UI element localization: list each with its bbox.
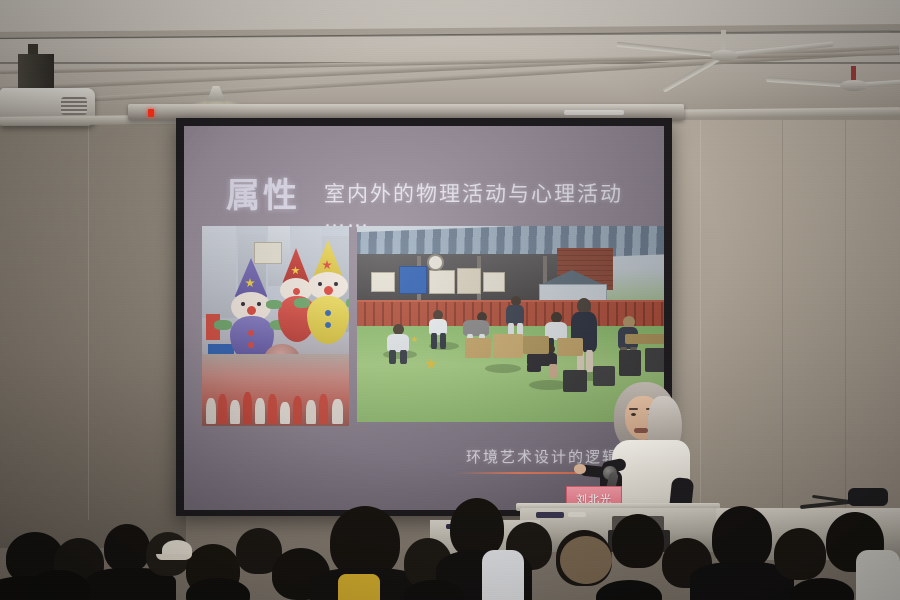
slide-subheading: 室内外的物理活动与心理活动 …… xyxy=(324,178,664,232)
wall-seam xyxy=(88,120,89,520)
audience-white-hoodie xyxy=(482,550,524,600)
lecture-hall-scene: 属性 室内外的物理活动与心理活动 …… xyxy=(0,0,900,600)
projected-slide: 属性 室内外的物理活动与心理活动 …… xyxy=(184,126,664,510)
slide-heading: 属性 xyxy=(226,168,300,217)
audience-head xyxy=(450,498,504,558)
audience-yellow-shirt xyxy=(338,574,380,600)
parade-balloons-photo xyxy=(202,226,349,426)
parade-crowd xyxy=(202,354,349,426)
presenter-hand xyxy=(574,464,586,474)
housing-label xyxy=(564,110,624,115)
audience-curly-hair xyxy=(560,536,612,584)
audience-head xyxy=(104,524,150,572)
wall-seam xyxy=(782,120,783,520)
audience-head xyxy=(790,578,854,600)
wall-panel-left xyxy=(0,118,186,548)
audience-head xyxy=(596,580,662,600)
audience-head xyxy=(712,506,772,570)
audience-cap-brim xyxy=(156,554,190,560)
balloon-yellow xyxy=(302,240,349,336)
audience xyxy=(0,492,900,600)
wall-seam xyxy=(845,120,846,520)
audience-head xyxy=(612,514,664,568)
audience-head xyxy=(774,528,826,580)
audience-light-shirt xyxy=(856,550,900,600)
power-led-icon xyxy=(148,109,154,117)
